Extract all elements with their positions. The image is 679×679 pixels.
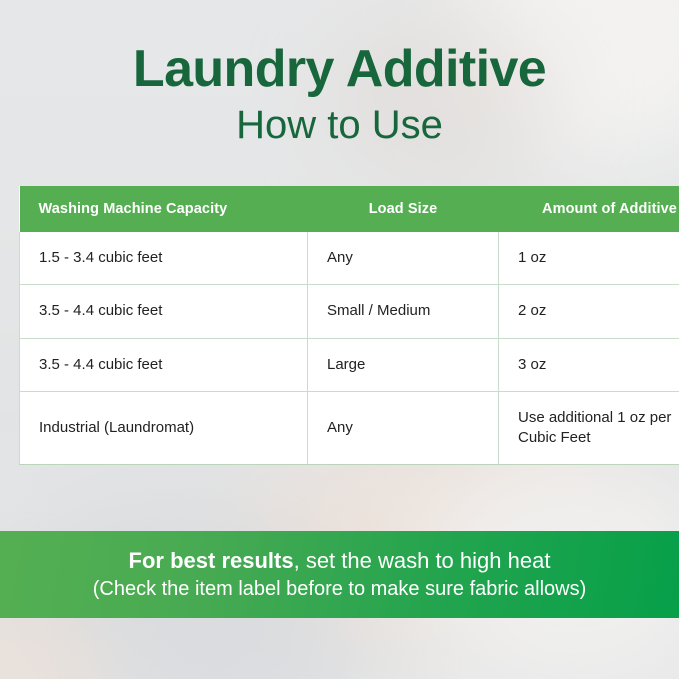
- table-row: 3.5 - 4.4 cubic feet Large 3 oz: [20, 338, 679, 391]
- cell-amount: 1 oz: [499, 232, 679, 285]
- page-subtitle: How to Use: [0, 103, 679, 147]
- column-header-amount: Amount of Additive: [499, 186, 679, 232]
- cell-load-size: Small / Medium: [308, 285, 499, 338]
- title-block: Laundry Additive How to Use: [0, 0, 679, 147]
- table-body: 1.5 - 3.4 cubic feet Any 1 oz 3.5 - 4.4 …: [20, 232, 679, 465]
- table-header-row: Washing Machine Capacity Load Size Amoun…: [20, 186, 679, 232]
- banner-primary-line: For best results, set the wash to high h…: [129, 548, 551, 573]
- cell-load-size: Any: [308, 391, 499, 465]
- table-row: 3.5 - 4.4 cubic feet Small / Medium 2 oz: [20, 285, 679, 338]
- cell-amount: 2 oz: [499, 285, 679, 338]
- cell-capacity: 3.5 - 4.4 cubic feet: [20, 285, 308, 338]
- table-row: Industrial (Laundromat) Any Use addition…: [20, 391, 679, 465]
- cell-capacity: 3.5 - 4.4 cubic feet: [20, 338, 308, 391]
- cell-load-size: Any: [308, 232, 499, 285]
- banner-regular-text: , set the wash to high heat: [294, 548, 551, 573]
- column-header-load-size: Load Size: [308, 186, 499, 232]
- banner-secondary-line: (Check the item label before to make sur…: [93, 578, 587, 601]
- table-row: 1.5 - 3.4 cubic feet Any 1 oz: [20, 232, 679, 285]
- cell-capacity: 1.5 - 3.4 cubic feet: [20, 232, 308, 285]
- page-title: Laundry Additive: [0, 42, 679, 97]
- cell-load-size: Large: [308, 338, 499, 391]
- best-results-banner: For best results, set the wash to high h…: [0, 531, 679, 618]
- table-header: Washing Machine Capacity Load Size Amoun…: [20, 186, 679, 232]
- usage-table-container: Washing Machine Capacity Load Size Amoun…: [19, 186, 661, 465]
- cell-amount: 3 oz: [499, 338, 679, 391]
- column-header-capacity: Washing Machine Capacity: [20, 186, 308, 232]
- usage-table: Washing Machine Capacity Load Size Amoun…: [19, 186, 679, 465]
- cell-capacity: Industrial (Laundromat): [20, 391, 308, 465]
- banner-bold-text: For best results: [129, 548, 294, 573]
- cell-amount: Use additional 1 oz per Cubic Feet: [499, 391, 679, 465]
